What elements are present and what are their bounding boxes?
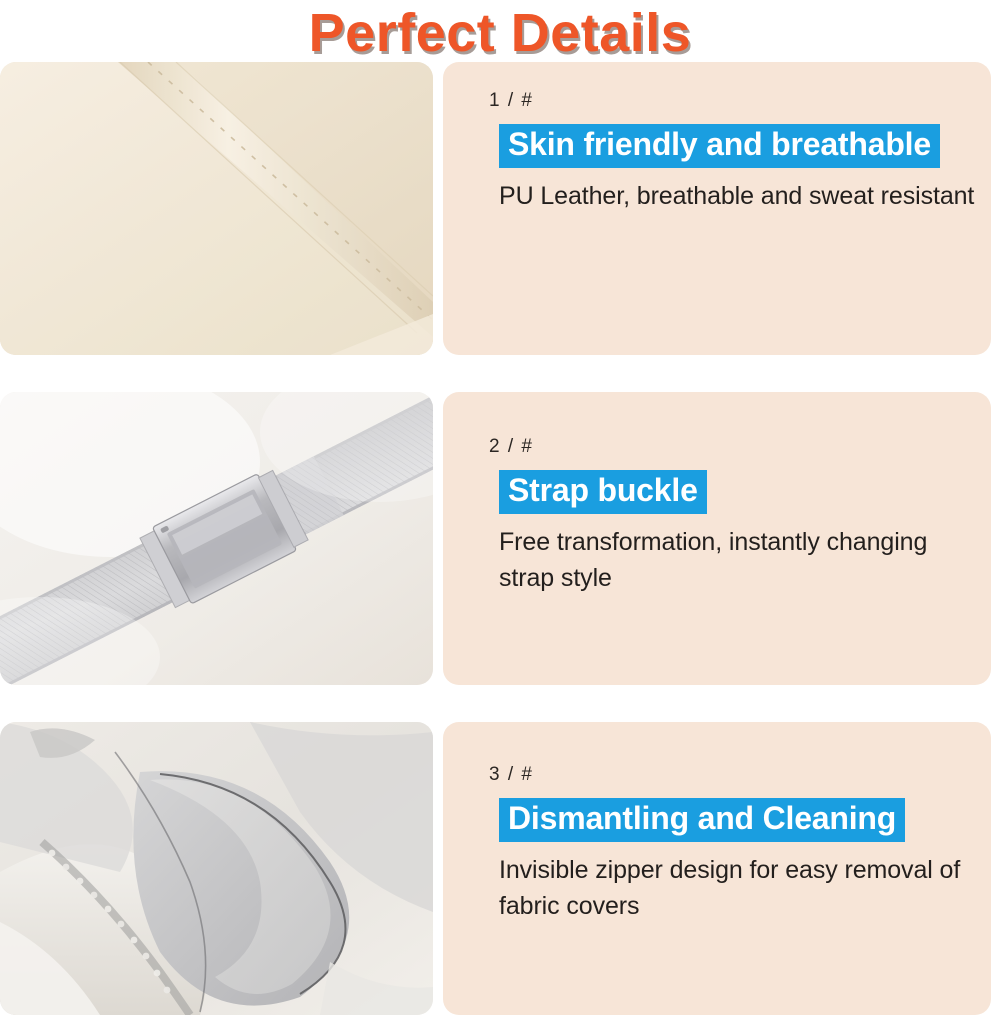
feature-row: 2 / # Strap buckle Free transformation, … [0,392,1000,685]
feature-image-leather [0,62,433,355]
feature-headline: Strap buckle [499,470,707,514]
feature-row: 1 / # Skin friendly and breathable PU Le… [0,62,1000,355]
feature-image-buckle [0,392,433,685]
leather-closeup-illustration [0,62,433,355]
feature-text-panel: 2 / # Strap buckle Free transformation, … [443,392,991,685]
feature-headline: Dismantling and Cleaning [499,798,905,842]
feature-list: 1 / # Skin friendly and breathable PU Le… [0,62,1000,1015]
feature-index-label: 1 / # [489,90,983,112]
feature-text-panel: 3 / # Dismantling and Cleaning Invisible… [443,722,991,1015]
feature-body-text: PU Leather, breathable and sweat resista… [499,178,983,214]
feature-body-text: Invisible zipper design for easy removal… [499,852,983,925]
feature-headline: Skin friendly and breathable [499,124,940,168]
strap-buckle-illustration [0,392,433,685]
page-title: Perfect Details [0,0,1000,62]
feature-image-zipper [0,722,433,1015]
feature-text-panel: 1 / # Skin friendly and breathable PU Le… [443,62,991,355]
feature-headline-wrap: Dismantling and Cleaning [499,798,983,842]
feature-headline-wrap: Skin friendly and breathable [499,124,983,168]
feature-body-text: Free transformation, instantly changing … [499,524,983,597]
feature-index-label: 2 / # [489,436,983,458]
feature-index-label: 3 / # [489,764,983,786]
feature-headline-wrap: Strap buckle [499,470,983,514]
fabric-zipper-illustration [0,722,433,1015]
feature-row: 3 / # Dismantling and Cleaning Invisible… [0,722,1000,1015]
